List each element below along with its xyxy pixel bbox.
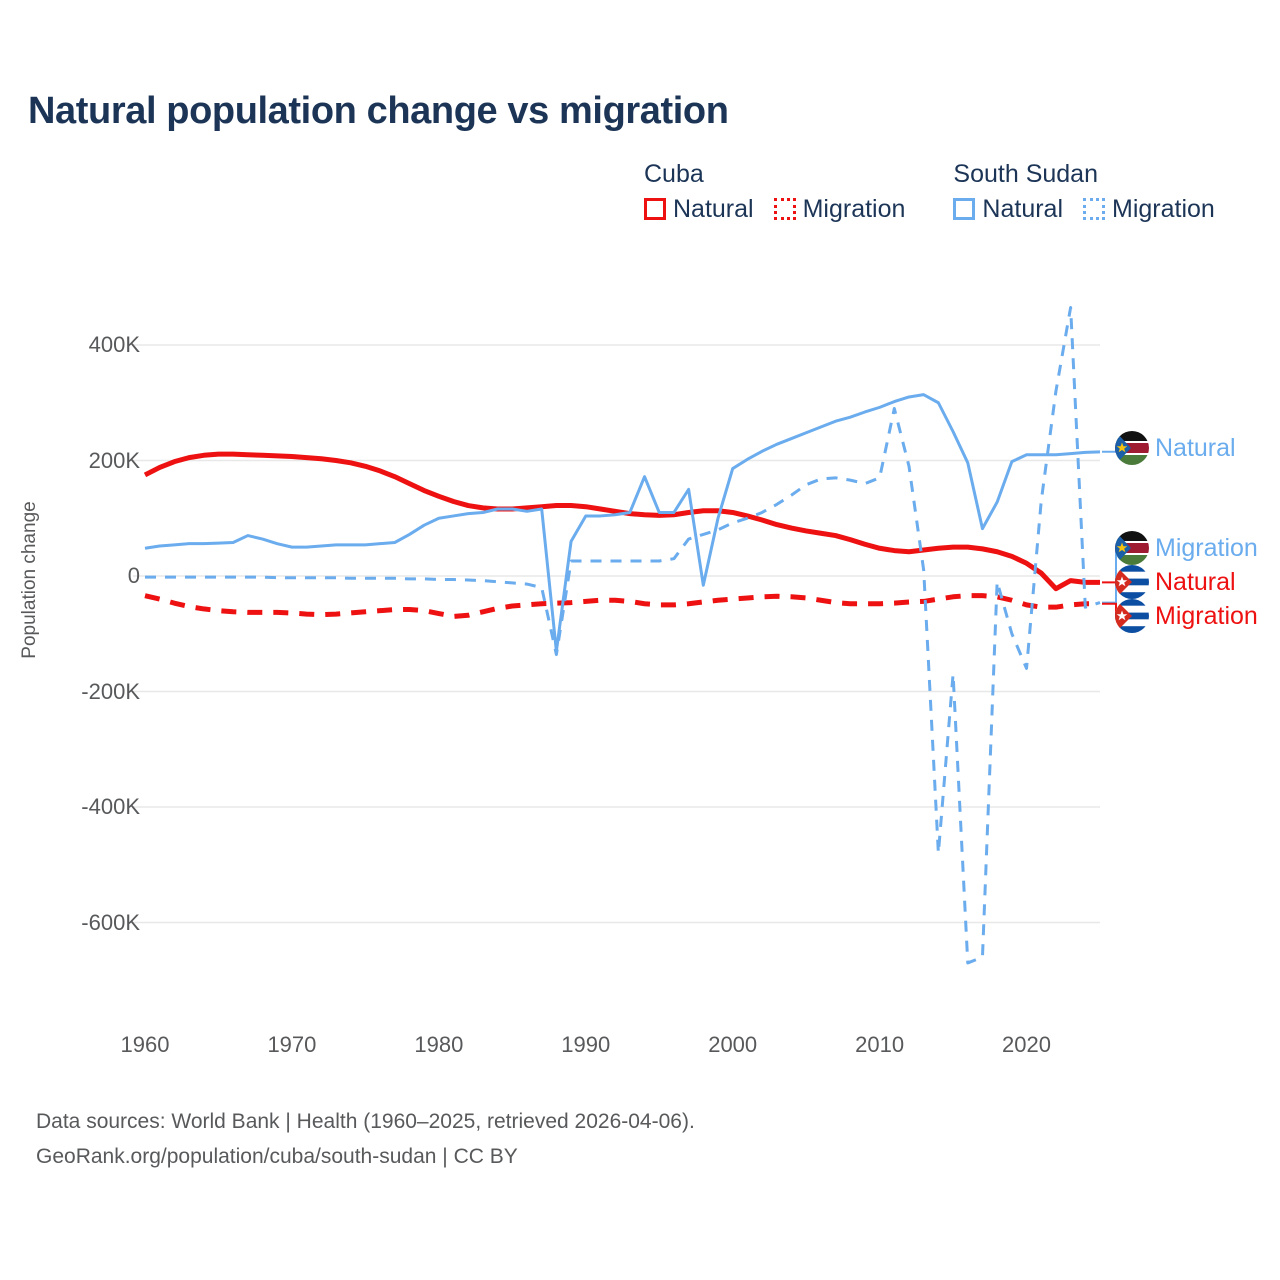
y-tick-label: 0 [128,563,140,589]
y-tick-label: 200K [89,448,140,474]
end-label-text: Migration [1155,534,1258,563]
x-tick-label: 1970 [267,1032,316,1058]
x-tick-label: 2000 [708,1032,757,1058]
y-tick-label: 400K [89,332,140,358]
y-tick-label: -400K [81,794,140,820]
cuba-flag-icon [1115,599,1149,633]
x-tick-label: 1990 [561,1032,610,1058]
x-tick-label: 2010 [855,1032,904,1058]
end-label-text: Natural [1155,568,1236,597]
end-label-text: Natural [1155,434,1236,463]
end-label-south-sudan-natural[interactable]: Natural [1115,431,1236,465]
footer: Data sources: World Bank | Health (1960–… [36,1105,695,1174]
end-label-cuba-natural[interactable]: Natural [1115,565,1236,599]
y-tick-label: -600K [81,910,140,936]
footer-attribution: GeoRank.org/population/cuba/south-sudan … [36,1140,695,1175]
south-sudan-flag-icon [1115,531,1149,565]
chart-axes: Population change 400K200K0-200K-400K-60… [0,0,1280,1280]
footer-sources: Data sources: World Bank | Health (1960–… [36,1105,695,1140]
end-label-text: Migration [1155,602,1258,631]
end-label-south-sudan-migration[interactable]: Migration [1115,531,1258,565]
end-label-cuba-migration[interactable]: Migration [1115,599,1258,633]
cuba-flag-icon [1115,565,1149,599]
x-tick-label: 1960 [121,1032,170,1058]
south-sudan-flag-icon [1115,431,1149,465]
y-tick-label: -200K [81,679,140,705]
y-axis-label: Population change [19,501,41,658]
x-tick-label: 2020 [1002,1032,1051,1058]
x-tick-label: 1980 [414,1032,463,1058]
